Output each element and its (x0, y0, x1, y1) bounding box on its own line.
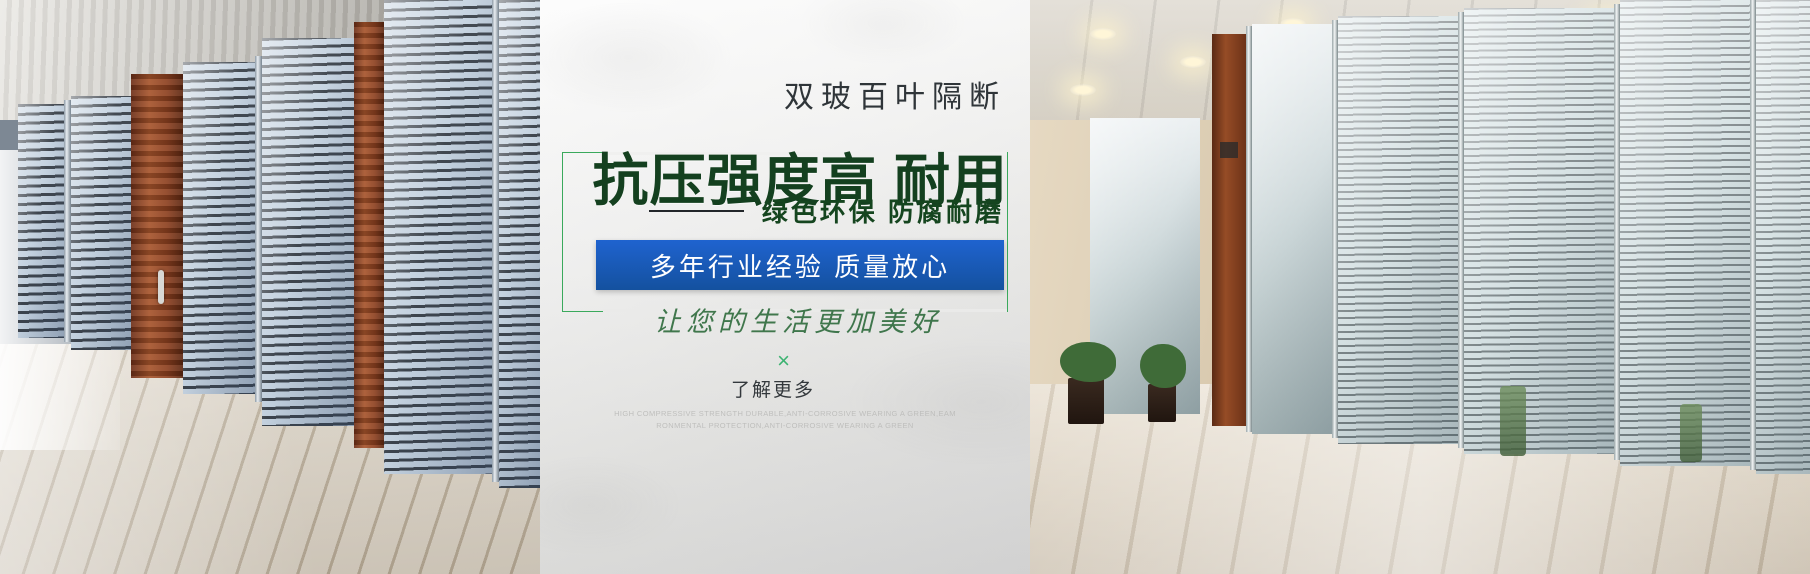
room-number-sign (1220, 142, 1238, 158)
louvre-glass-partition (1756, 0, 1810, 474)
ceiling-spotlight (1180, 56, 1206, 68)
cta-banner-label: 多年行业经验 质量放心 (650, 247, 950, 284)
cta-banner[interactable]: 多年行业经验 质量放心 (596, 240, 1004, 290)
partition-bay (183, 62, 255, 394)
partition-bay (71, 96, 131, 350)
subline-rule (649, 210, 744, 212)
plant-pot (1148, 384, 1176, 422)
learn-more-link[interactable]: 了解更多 (540, 375, 815, 402)
glass-partition (1252, 24, 1332, 434)
english-subtext: HIGH COMPRESSIVE STRENGTH DURABLE,ANTI-C… (580, 408, 990, 431)
ceiling-spotlight (1090, 28, 1116, 40)
plant-pot (1068, 378, 1104, 424)
wood-door-frame (131, 74, 183, 378)
wood-door-frame (1212, 34, 1246, 426)
louvre-partition-wall (0, 0, 540, 574)
subline-row: 绿色环保 防腐耐磨 (568, 192, 1004, 229)
script-tagline: 让您的生活更加美好 (540, 300, 942, 339)
indoor-plant (1500, 386, 1526, 456)
partition-mullion (64, 100, 71, 342)
partition-bay (499, 0, 540, 488)
hero-banner: 双玻百叶隔断 抗压强度高 耐用 绿色环保 防腐耐磨 多年行业经验 质量放心 让您… (0, 0, 1810, 574)
english-subtext-line-2: RONMENTAL PROTECTION,ANTI-CORROSIVE WEAR… (580, 420, 990, 432)
english-subtext-line-1: HIGH COMPRESSIVE STRENGTH DURABLE,ANTI-C… (580, 408, 990, 420)
louvre-glass-partition (1464, 8, 1614, 454)
center-text-panel: 双玻百叶隔断 抗压强度高 耐用 绿色环保 防腐耐磨 多年行业经验 质量放心 让您… (540, 0, 1030, 574)
indoor-plant (1680, 404, 1702, 462)
partition-mullion (255, 56, 262, 402)
plant-foliage (1060, 342, 1116, 382)
door-handle (158, 270, 164, 304)
partition-bay (18, 104, 64, 338)
right-product-photo (1030, 0, 1810, 574)
cross-divider-icon: × (540, 348, 790, 374)
subline-text: 绿色环保 防腐耐磨 (762, 192, 1004, 229)
left-product-photo (0, 0, 540, 574)
kicker-text: 双玻百叶隔断 (540, 72, 1006, 116)
partition-bay (262, 38, 354, 426)
louvre-glass-partition (1620, 0, 1750, 466)
partition-mullion (492, 0, 499, 482)
plant-foliage (1140, 344, 1186, 388)
wood-door-frame (354, 22, 384, 448)
louvre-glass-partition (1338, 16, 1458, 444)
ceiling-spotlight (1070, 84, 1096, 96)
partition-bay (384, 0, 492, 474)
